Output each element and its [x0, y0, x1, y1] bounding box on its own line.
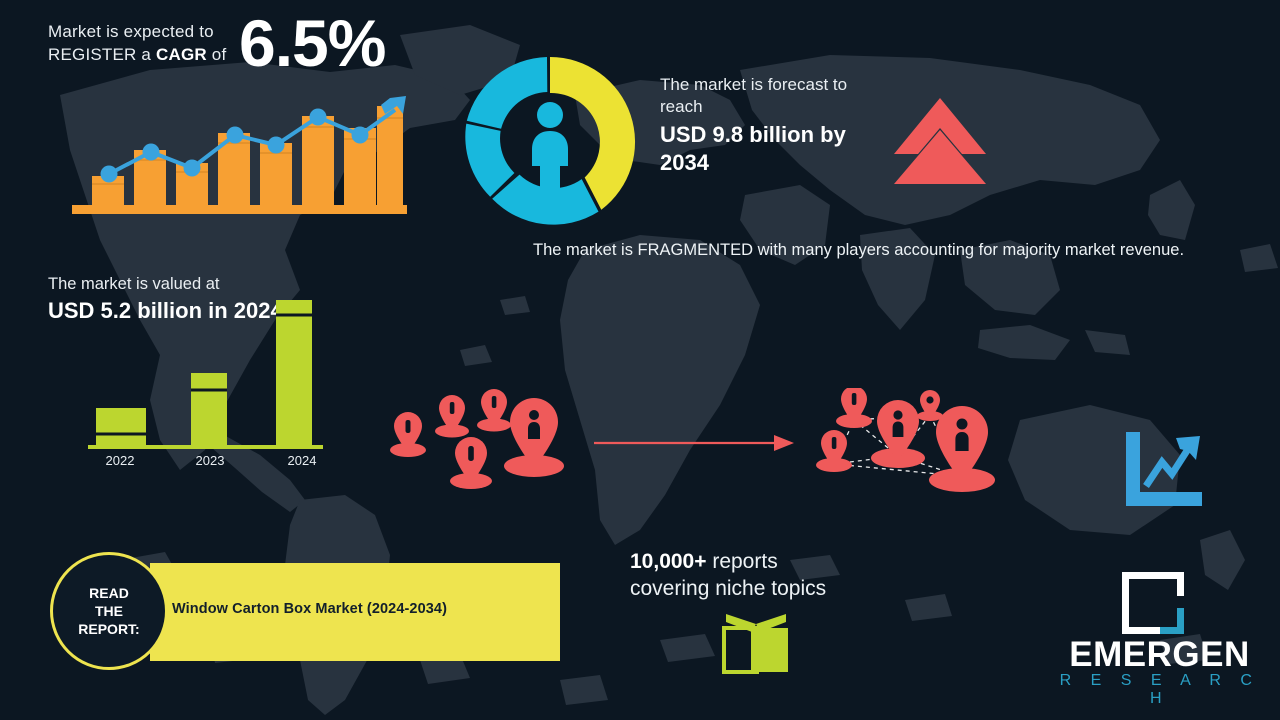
cta-line-2: THE — [95, 603, 123, 619]
chart-baseline — [72, 205, 407, 214]
cagr-value: 6.5% — [239, 12, 385, 74]
forecast-block: The market is forecast to reach USD 9.8 … — [660, 74, 890, 177]
reports-line-1: 10,000+ reports — [630, 548, 890, 575]
map-pin-cluster-scattered — [382, 388, 577, 493]
green-bar-series — [96, 300, 312, 446]
cagr-line-1: Market is expected to — [48, 20, 233, 43]
tick-label: 2023 — [196, 453, 225, 468]
logo-tagline: R E S E A R C H — [1052, 672, 1267, 708]
growth-chart-arrow-icon — [1122, 430, 1204, 508]
infographic-canvas: Market is expected to REGISTER a CAGR of… — [0, 0, 1280, 720]
logo-wordmark: EMERGEN — [1052, 636, 1267, 674]
green-chart-tick-labels: 2022 2023 2024 — [106, 453, 317, 468]
cagr-line-2-post: of — [207, 45, 227, 64]
report-title[interactable]: Window Carton Box Market (2024-2034) — [172, 601, 542, 617]
reports-count-block: 10,000+ reports covering niche topics — [630, 548, 890, 602]
cagr-line-2: REGISTER a CAGR of — [48, 43, 233, 66]
reports-line-2: covering niche topics — [630, 575, 890, 602]
donut-segment-cyan-3 — [467, 57, 548, 129]
green-year-bar-chart: 2022 2023 2024 — [78, 295, 333, 470]
right-arrow-icon — [594, 432, 794, 454]
cagr-line-2-pre: REGISTER a — [48, 45, 156, 64]
donut-segment-yellow — [550, 57, 635, 210]
cta-line-3: REPORT: — [78, 621, 139, 637]
person-icon — [528, 410, 540, 439]
bar-2022 — [96, 408, 146, 446]
read-the-report-button[interactable]: READ THE REPORT: — [50, 552, 168, 670]
cagr-text: Market is expected to REGISTER a CAGR of — [48, 20, 233, 66]
reports-count: 10,000+ — [630, 550, 707, 573]
bar — [302, 116, 334, 206]
market-share-donut-chart — [460, 52, 640, 232]
reports-count-suffix: reports — [707, 550, 778, 573]
bar-2024 — [276, 300, 312, 446]
emergen-research-logo: EMERGEN R E S E A R C H — [1052, 572, 1267, 692]
cagr-block: Market is expected to REGISTER a CAGR of… — [48, 20, 478, 74]
valuation-label: The market is valued at — [48, 273, 303, 295]
map-pin-cluster-networked — [812, 388, 1004, 500]
forecast-value: USD 9.8 billion by 2034 — [660, 121, 890, 177]
double-chevron-up-icon — [890, 96, 990, 184]
orange-growth-bar-chart — [72, 88, 407, 216]
cagr-keyword: CAGR — [156, 45, 207, 64]
read-the-report-label: READ THE REPORT: — [78, 584, 139, 638]
fragmented-statement: The market is FRAGMENTED with many playe… — [533, 238, 1233, 263]
person-icon — [532, 102, 568, 192]
person-icon — [955, 419, 968, 452]
person-icon — [893, 410, 904, 437]
tick-label: 2024 — [288, 453, 317, 468]
forecast-label: The market is forecast to reach — [660, 74, 890, 118]
tick-label: 2022 — [106, 453, 135, 468]
bar-2023 — [191, 373, 227, 446]
cta-line-1: READ — [89, 585, 129, 601]
green-chart-baseline — [88, 445, 323, 449]
square-bracket-mark-icon — [1122, 572, 1184, 634]
bar-series — [92, 106, 403, 206]
open-book-icon — [718, 612, 794, 674]
